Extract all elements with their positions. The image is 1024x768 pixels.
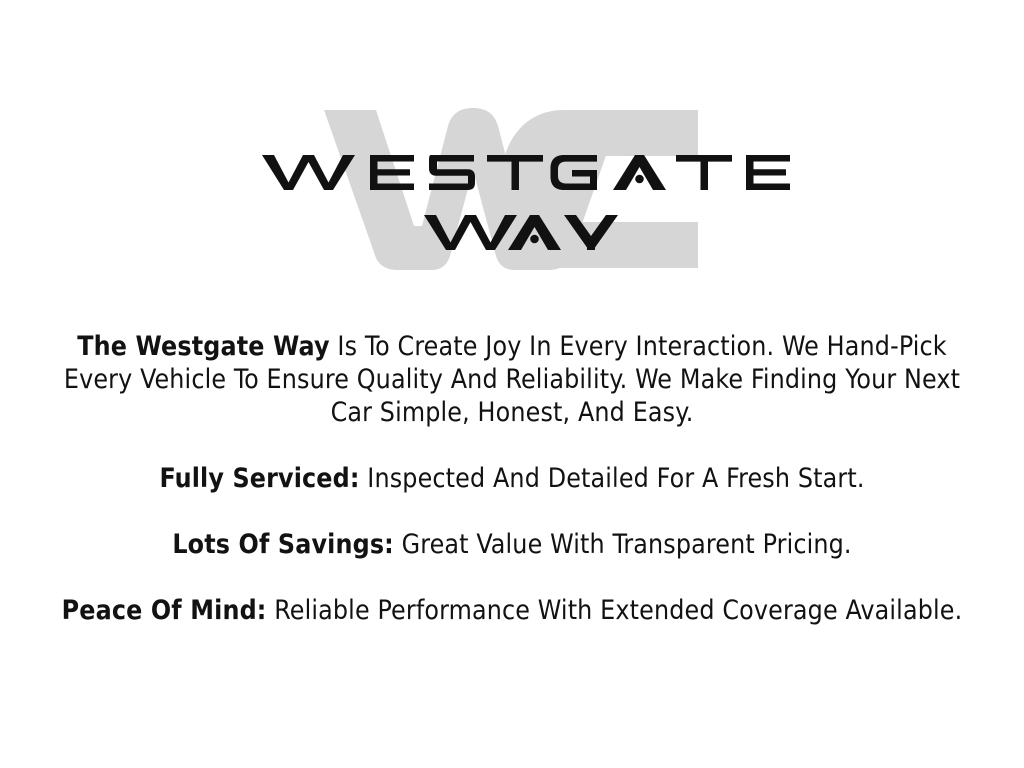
paragraph-lots-of-savings: Lots Of Savings: Great Value With Transp… bbox=[42, 528, 982, 561]
paragraph-intro: The Westgate Way Is To Create Joy In Eve… bbox=[42, 330, 982, 429]
paragraph-lead: Peace Of Mind: bbox=[62, 595, 267, 626]
paragraph-lead: Lots Of Savings: bbox=[172, 529, 394, 560]
paragraph-peace-of-mind: Peace Of Mind: Reliable Performance With… bbox=[42, 594, 982, 627]
wordmark bbox=[0, 96, 1024, 286]
paragraph-fully-serviced: Fully Serviced: Inspected And Detailed F… bbox=[42, 462, 982, 495]
paragraph-lead: Fully Serviced: bbox=[159, 463, 359, 494]
paragraph-body: Inspected And Detailed For A Fresh Start… bbox=[360, 463, 865, 494]
paragraph-body: Great Value With Transparent Pricing. bbox=[394, 529, 852, 560]
value-proposition-text: The Westgate Way Is To Create Joy In Eve… bbox=[0, 330, 1024, 627]
brand-logo bbox=[0, 96, 1024, 286]
paragraph-lead: The Westgate Way bbox=[77, 331, 329, 362]
paragraph-body: Reliable Performance With Extended Cover… bbox=[267, 595, 963, 626]
